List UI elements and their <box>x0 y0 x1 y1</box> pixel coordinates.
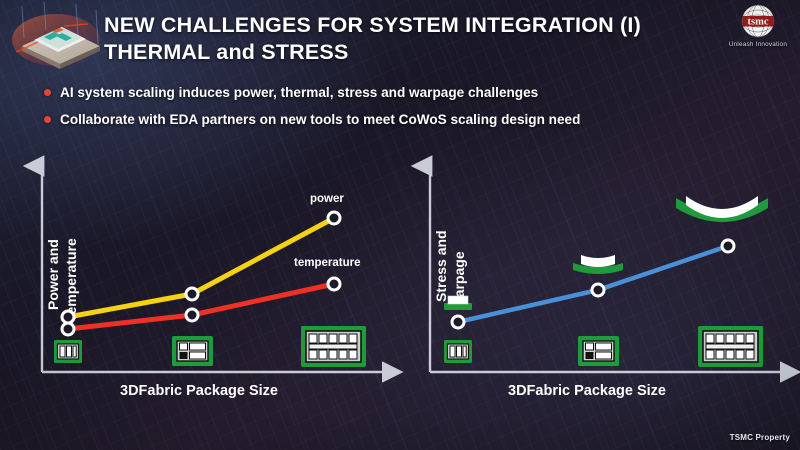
y-axis-label-line1: Power and <box>45 239 61 310</box>
slide-title: NEW CHALLENGES FOR SYSTEM INTEGRATION (I… <box>104 12 724 66</box>
series-label-temperature: temperature <box>294 257 360 269</box>
package-icon-large <box>698 326 763 367</box>
package-icon-medium <box>172 336 213 366</box>
package-icon-small <box>54 340 82 363</box>
x-axis-label: 3DFabric Package Size <box>508 383 666 399</box>
chart-thermal: Power and Temperature 3DFabric Package S… <box>20 150 410 400</box>
package-icon-large <box>301 326 366 367</box>
list-item: AI system scaling induces power, thermal… <box>44 84 744 101</box>
bullet-dot-icon <box>44 116 51 123</box>
y-axis-label-line2: Temperature <box>63 238 79 322</box>
slide-title-line1: NEW CHALLENGES FOR SYSTEM INTEGRATION (I… <box>104 13 641 37</box>
package-icon-medium <box>578 336 619 366</box>
svg-text:tsmc: tsmc <box>748 16 769 27</box>
package-icon-small <box>444 340 472 363</box>
warpage-shape-flat <box>444 296 472 310</box>
chart-stress: Stress and Warpage 3DFabric Package Size <box>408 150 798 400</box>
tsmc-logo: tsmc Unleash Innovation <box>722 4 794 48</box>
footer-property-notice: TSMC Property <box>730 433 790 442</box>
y-axis-label-line1: Stress and <box>433 230 449 302</box>
series-line-stress-warpage <box>458 246 728 322</box>
bullet-dot-icon <box>44 89 51 96</box>
bullet-list: AI system scaling induces power, thermal… <box>44 84 744 138</box>
package-3d-render-image <box>4 2 116 80</box>
slide-root: NEW CHALLENGES FOR SYSTEM INTEGRATION (I… <box>0 0 800 450</box>
x-axis-label: 3DFabric Package Size <box>120 383 278 399</box>
warpage-shape-slight <box>573 255 623 274</box>
slide-title-line2: THERMAL and STRESS <box>104 39 724 66</box>
tsmc-logo-tagline: Unleash Innovation <box>722 41 794 48</box>
bullet-text: AI system scaling induces power, thermal… <box>60 84 538 101</box>
bullet-text: Collaborate with EDA partners on new too… <box>60 111 580 128</box>
warpage-shape-strong <box>676 196 768 222</box>
list-item: Collaborate with EDA partners on new too… <box>44 111 744 128</box>
tsmc-logo-icon: tsmc <box>741 4 775 38</box>
series-label-power: power <box>310 193 344 205</box>
